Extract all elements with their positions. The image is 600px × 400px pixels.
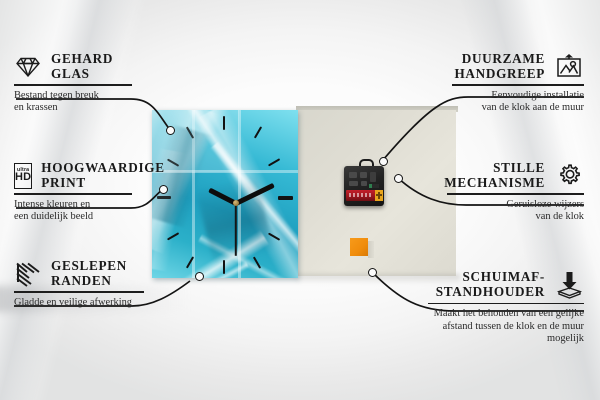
feature-description: Maakt het behouden van een gelijke afsta… [428, 308, 584, 345]
feature-title: STILLE MECHANISME [444, 161, 545, 190]
feature-hoogwaardige-print: ultra HD HOOGWAARDIGE PRINT Intense kleu… [14, 161, 132, 223]
connector-node-gehard-glas [166, 126, 175, 135]
diagonal-lines-icon [14, 261, 42, 287]
gear-icon [554, 162, 584, 190]
feature-title: HOOGWAARDIGE PRINT [41, 161, 164, 190]
feature-schuimaf-standhouder: SCHUIMAF- STANDHOUDER Maakt het behouden… [428, 270, 584, 346]
ultra-hd-badge-icon: ultra HD [14, 163, 32, 189]
ultra-hd-badge-big-text: HD [15, 172, 31, 183]
picture-frame-icon [554, 53, 584, 81]
feature-divider [14, 193, 132, 194]
feature-description: Intense kleuren en een duidelijk beeld [14, 199, 132, 224]
feature-title: GEHARD GLAS [51, 52, 113, 81]
feature-divider [447, 193, 584, 194]
feature-description: Bestand tegen breuk en krassen [14, 90, 132, 115]
feature-divider [452, 84, 584, 85]
feature-header: STILLE MECHANISME [447, 161, 584, 190]
connector-node-stille-mechanisme [394, 174, 403, 183]
feature-title: DUURZAME HANDGREEP [454, 52, 545, 81]
diamond-icon [14, 54, 42, 80]
connector-node-geslepen-randen [195, 272, 204, 281]
feature-divider [14, 84, 132, 85]
feature-description: Eenvoudige installatie van de klok aan d… [452, 90, 584, 115]
arrow-down-pad-icon [554, 270, 584, 300]
feature-header: ultra HD HOOGWAARDIGE PRINT [14, 161, 132, 190]
feature-title: GESLEPEN RANDEN [51, 259, 127, 288]
feature-header: GESLEPEN RANDEN [14, 259, 144, 288]
feature-header: DUURZAME HANDGREEP [452, 52, 584, 81]
feature-divider [428, 303, 584, 304]
feature-stille-mechanisme: STILLE MECHANISME Geruisloze wijzers van… [447, 161, 584, 223]
connector-node-schuimaf-standhouder [368, 268, 377, 277]
feature-header: SCHUIMAF- STANDHOUDER [428, 270, 584, 300]
product-infographic: GEHARD GLAS Bestand tegen breuk en krass… [0, 0, 600, 400]
connector-node-duurzame-handgreep [379, 157, 388, 166]
feature-divider [14, 291, 144, 292]
feature-geslepen-randen: GESLEPEN RANDEN Gladde en veilige afwerk… [14, 259, 144, 309]
feature-title: SCHUIMAF- STANDHOUDER [436, 270, 545, 299]
feature-description: Gladde en veilige afwerking [14, 297, 144, 309]
feature-description: Geruisloze wijzers van de klok [447, 199, 584, 224]
feature-duurzame-handgreep: DUURZAME HANDGREEP Eenvoudige installati… [452, 52, 584, 114]
feature-gehard-glas: GEHARD GLAS Bestand tegen breuk en krass… [14, 52, 132, 114]
feature-header: GEHARD GLAS [14, 52, 132, 81]
